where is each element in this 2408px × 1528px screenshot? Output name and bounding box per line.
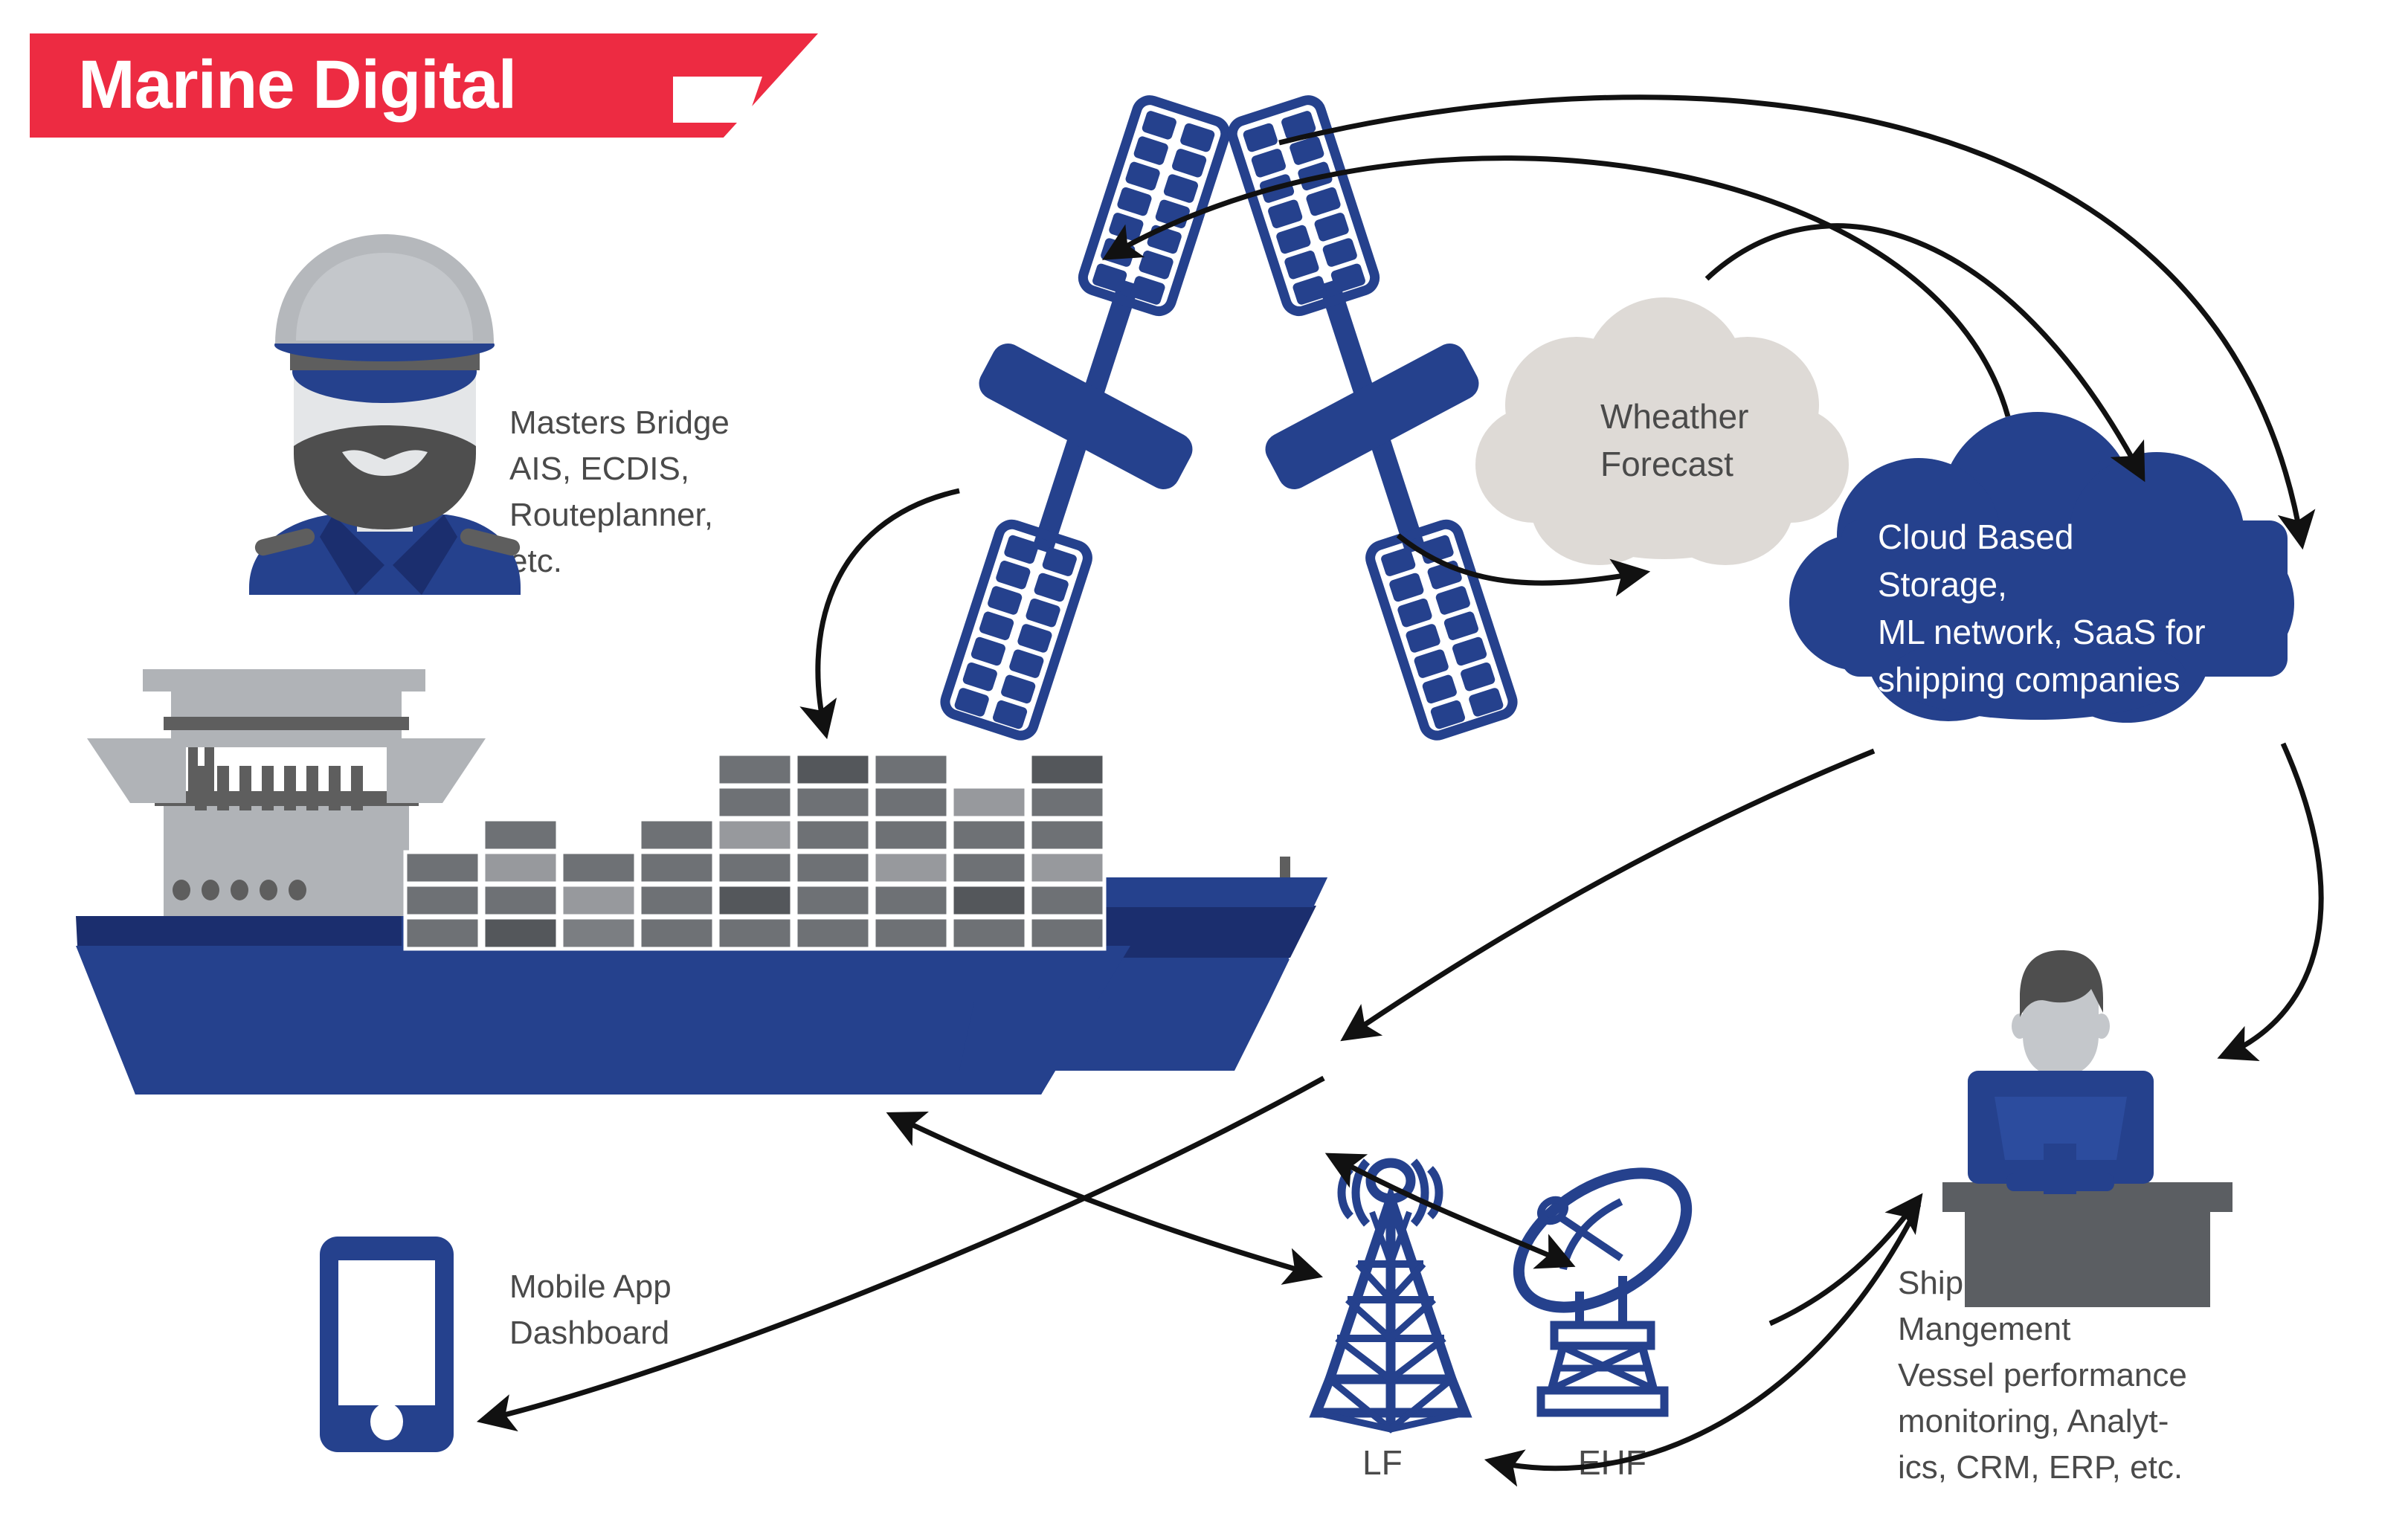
cloud-layer <box>0 0 2408 1528</box>
cloud-storage-label: Cloud Based Storage, ML network, SaaS fo… <box>1878 513 2354 703</box>
infographic-canvas: Marine Digital <box>0 0 2408 1528</box>
logo-wordmark: Marine Digital <box>78 43 516 126</box>
weather-forecast-label: Wheather Forecast <box>1600 393 1853 488</box>
